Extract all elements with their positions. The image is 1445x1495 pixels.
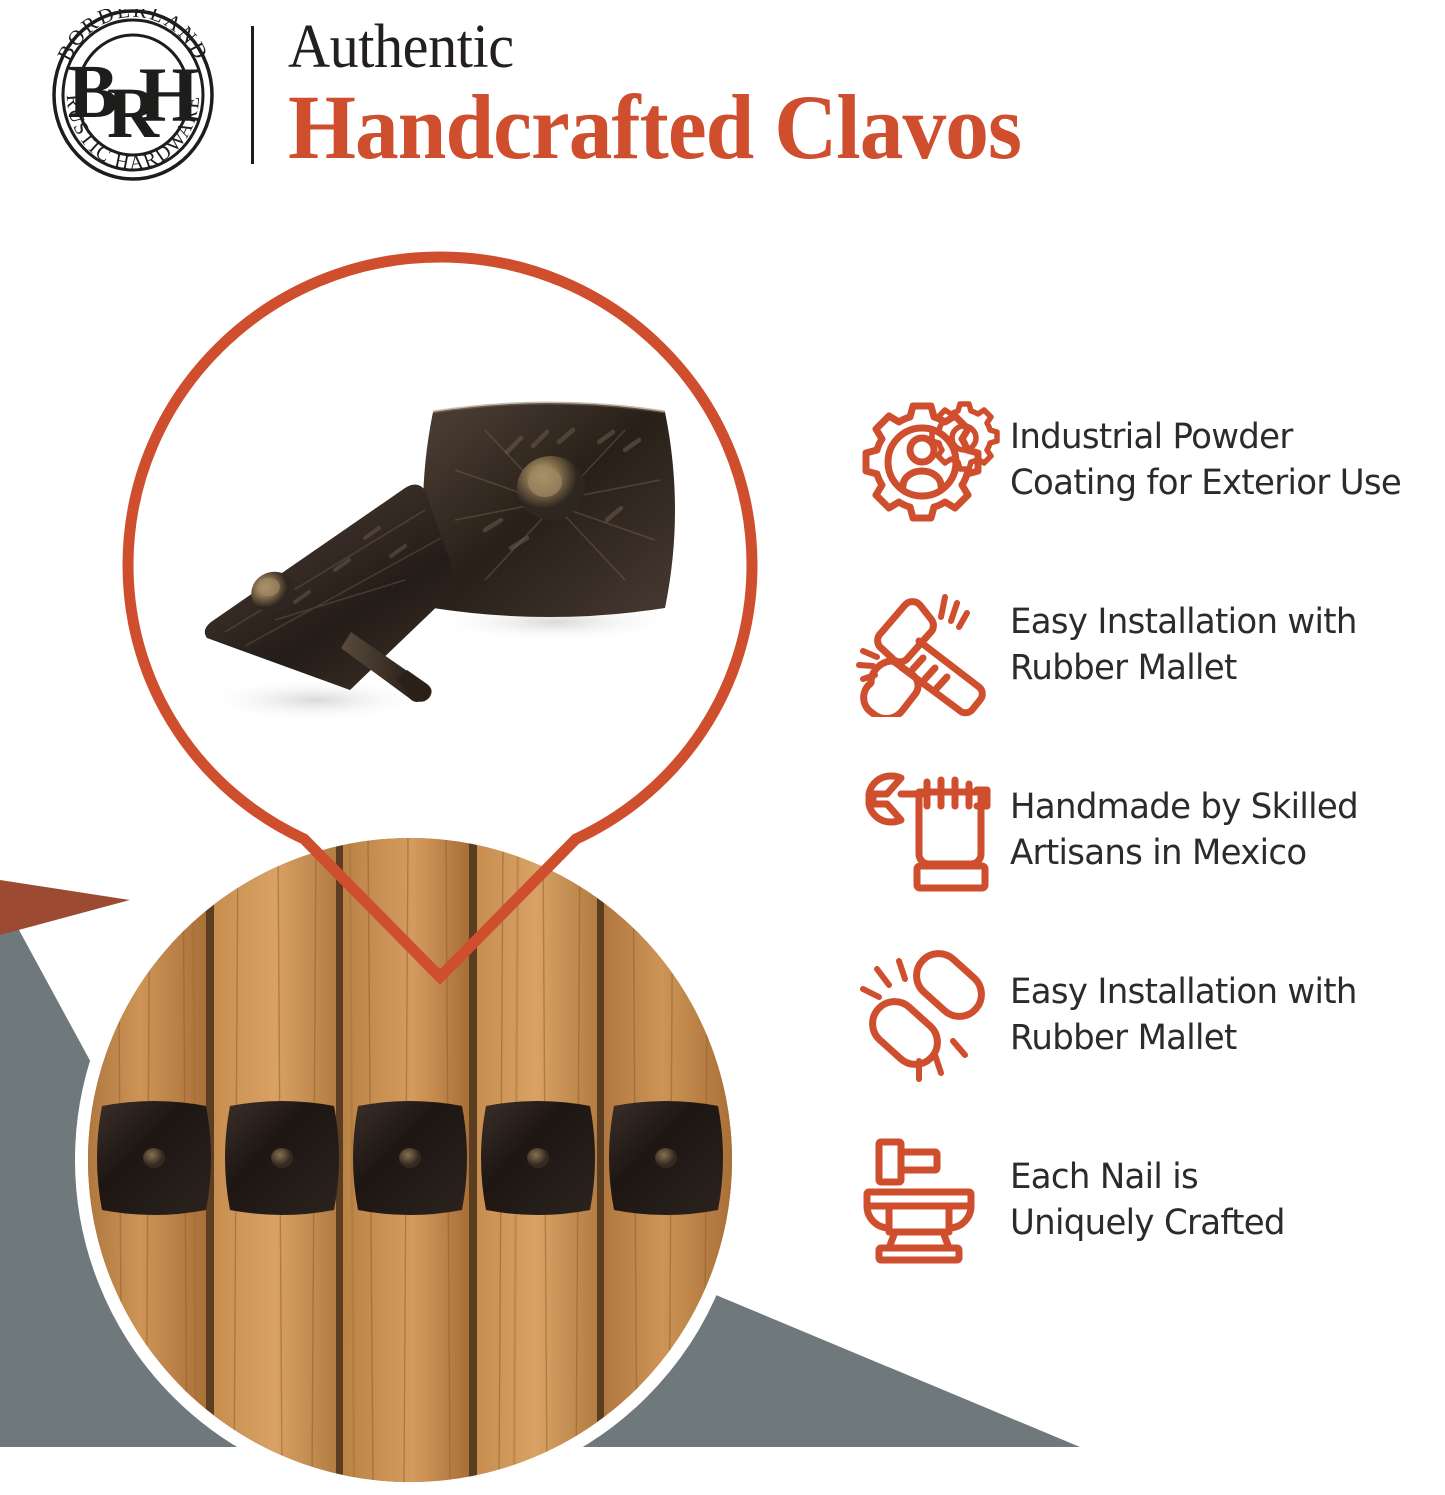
feature-line-2: Rubber Mallet	[1010, 1016, 1357, 1062]
feature-line-2: Artisans in Mexico	[1010, 831, 1358, 877]
feature-line-1: Industrial Powder	[1010, 415, 1401, 461]
gear-person-icon	[845, 386, 1010, 536]
feature-label: Each Nail is Uniquely Crafted	[1010, 1155, 1285, 1246]
product-visual-column	[0, 180, 810, 1447]
logo-monogram-h: H	[138, 51, 199, 138]
feature-item-uniquely-crafted: Each Nail is Uniquely Crafted	[845, 1108, 1445, 1293]
page-title: Authentic Handcrafted Clavos	[288, 17, 1060, 174]
title-line-authentic: Authentic	[288, 17, 1013, 78]
feature-line-1: Handmade by Skilled	[1010, 785, 1358, 831]
clavo-tilted-view	[205, 484, 457, 702]
clavo-front-view	[423, 403, 675, 617]
feature-list: Industrial Powder Coating for Exterior U…	[845, 368, 1445, 1293]
fist-wrench-icon	[845, 756, 1010, 906]
hand-mallet-icon	[845, 571, 1010, 721]
feature-line-1: Easy Installation with	[1010, 600, 1357, 646]
feature-label: Handmade by Skilled Artisans in Mexico	[1010, 785, 1358, 876]
logo-badge-icon: BORDERLAND RUSTIC HARDWARE B R H	[33, 9, 233, 181]
feature-line-2: Uniquely Crafted	[1010, 1201, 1285, 1247]
title-line-handcrafted-clavos: Handcrafted Clavos	[288, 81, 1021, 173]
feature-item-handmade-mexico: Handmade by Skilled Artisans in Mexico	[845, 738, 1445, 923]
clavo-row	[97, 1101, 723, 1215]
feature-line-2: Rubber Mallet	[1010, 646, 1357, 692]
feature-line-1: Each Nail is	[1010, 1155, 1285, 1201]
feature-line-2: Coating for Exterior Use	[1010, 461, 1401, 507]
feature-label: Easy Installation with Rubber Mallet	[1010, 970, 1357, 1061]
header-divider	[251, 26, 254, 164]
brand-logo: BORDERLAND RUSTIC HARDWARE B R H	[30, 8, 235, 183]
feature-line-1: Easy Installation with	[1010, 970, 1357, 1016]
product-photo-clavos	[155, 370, 725, 760]
feature-item-easy-install-mallet: Easy Installation with Rubber Mallet	[845, 553, 1445, 738]
chain-link-icon	[845, 941, 1010, 1091]
feature-item-easy-install-chain: Easy Installation with Rubber Mallet	[845, 923, 1445, 1108]
anvil-hammer-icon	[845, 1126, 1010, 1276]
feature-label: Easy Installation with Rubber Mallet	[1010, 600, 1357, 691]
feature-label: Industrial Powder Coating for Exterior U…	[1010, 415, 1401, 506]
feature-item-powder-coating: Industrial Powder Coating for Exterior U…	[845, 368, 1445, 553]
page-header: BORDERLAND RUSTIC HARDWARE B R H Authent…	[0, 0, 1445, 190]
